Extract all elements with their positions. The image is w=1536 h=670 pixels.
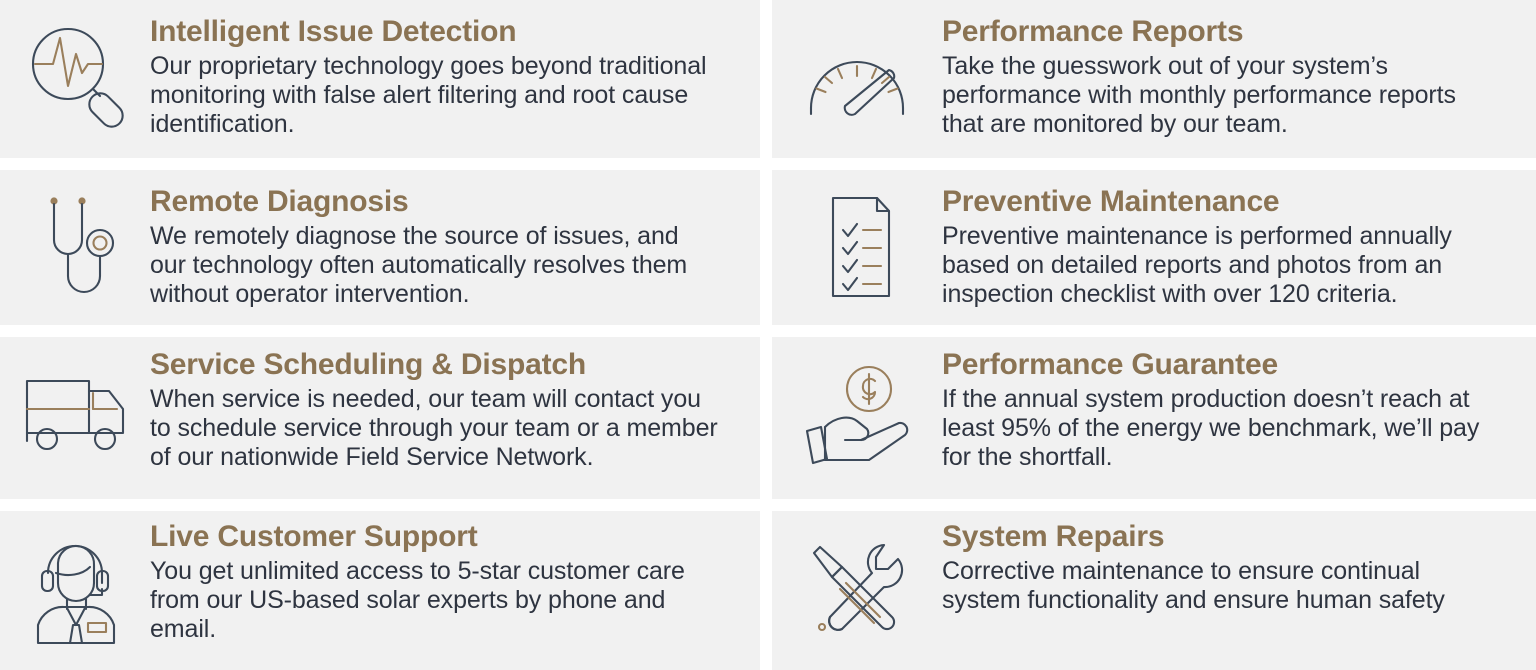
feature-title: Remote Diagnosis xyxy=(150,186,720,218)
magnifier-pulse-icon xyxy=(0,0,150,134)
wrench-screwdriver-icon xyxy=(772,511,942,649)
features-grid: Intelligent Issue Detection Our propriet… xyxy=(0,0,1536,664)
feature-card-live-customer-support[interactable]: Live Customer Support You get unlimited … xyxy=(0,511,760,670)
feature-card-body: Live Customer Support You get unlimited … xyxy=(150,511,760,644)
feature-title: Intelligent Issue Detection xyxy=(150,16,720,48)
feature-card-service-scheduling-dispatch[interactable]: Service Scheduling & Dispatch When servi… xyxy=(0,337,760,499)
feature-card-remote-diagnosis[interactable]: Remote Diagnosis We remotely diagnose th… xyxy=(0,170,760,325)
feature-description: We remotely diagnose the source of issue… xyxy=(150,222,720,309)
checklist-document-icon xyxy=(772,170,942,306)
feature-description: You get unlimited access to 5-star custo… xyxy=(150,557,720,644)
feature-title: Live Customer Support xyxy=(150,521,720,553)
feature-description: When service is needed, our team will co… xyxy=(150,385,720,472)
feature-card-body: System Repairs Corrective maintenance to… xyxy=(942,511,1536,615)
feature-title: Service Scheduling & Dispatch xyxy=(150,349,720,381)
hand-holding-coin-icon xyxy=(772,337,942,471)
stethoscope-icon xyxy=(0,170,150,306)
feature-title: Preventive Maintenance xyxy=(942,186,1496,218)
feature-description: If the annual system production doesn’t … xyxy=(942,385,1496,472)
feature-card-body: Performance Guarantee If the annual syst… xyxy=(942,337,1536,472)
feature-card-system-repairs[interactable]: System Repairs Corrective maintenance to… xyxy=(772,511,1536,670)
feature-title: Performance Reports xyxy=(942,16,1496,48)
speedometer-gauge-icon xyxy=(772,0,942,122)
feature-card-intelligent-issue-detection[interactable]: Intelligent Issue Detection Our propriet… xyxy=(0,0,760,158)
feature-description: Preventive maintenance is performed annu… xyxy=(942,222,1496,309)
feature-description: Take the guesswork out of your system’s … xyxy=(942,52,1496,139)
support-agent-headset-icon xyxy=(0,511,150,647)
feature-card-preventive-maintenance[interactable]: Preventive Maintenance Preventive mainte… xyxy=(772,170,1536,325)
feature-card-performance-guarantee[interactable]: Performance Guarantee If the annual syst… xyxy=(772,337,1536,499)
feature-card-performance-reports[interactable]: Performance Reports Take the guesswork o… xyxy=(772,0,1536,158)
feature-card-body: Performance Reports Take the guesswork o… xyxy=(942,0,1536,139)
feature-description: Our proprietary technology goes beyond t… xyxy=(150,52,720,139)
delivery-truck-icon xyxy=(0,337,150,459)
feature-card-body: Intelligent Issue Detection Our propriet… xyxy=(150,0,760,139)
feature-description: Corrective maintenance to ensure continu… xyxy=(942,557,1496,615)
feature-title: Performance Guarantee xyxy=(942,349,1496,381)
feature-card-body: Remote Diagnosis We remotely diagnose th… xyxy=(150,170,760,309)
feature-title: System Repairs xyxy=(942,521,1496,553)
feature-card-body: Preventive Maintenance Preventive mainte… xyxy=(942,170,1536,309)
feature-card-body: Service Scheduling & Dispatch When servi… xyxy=(150,337,760,472)
